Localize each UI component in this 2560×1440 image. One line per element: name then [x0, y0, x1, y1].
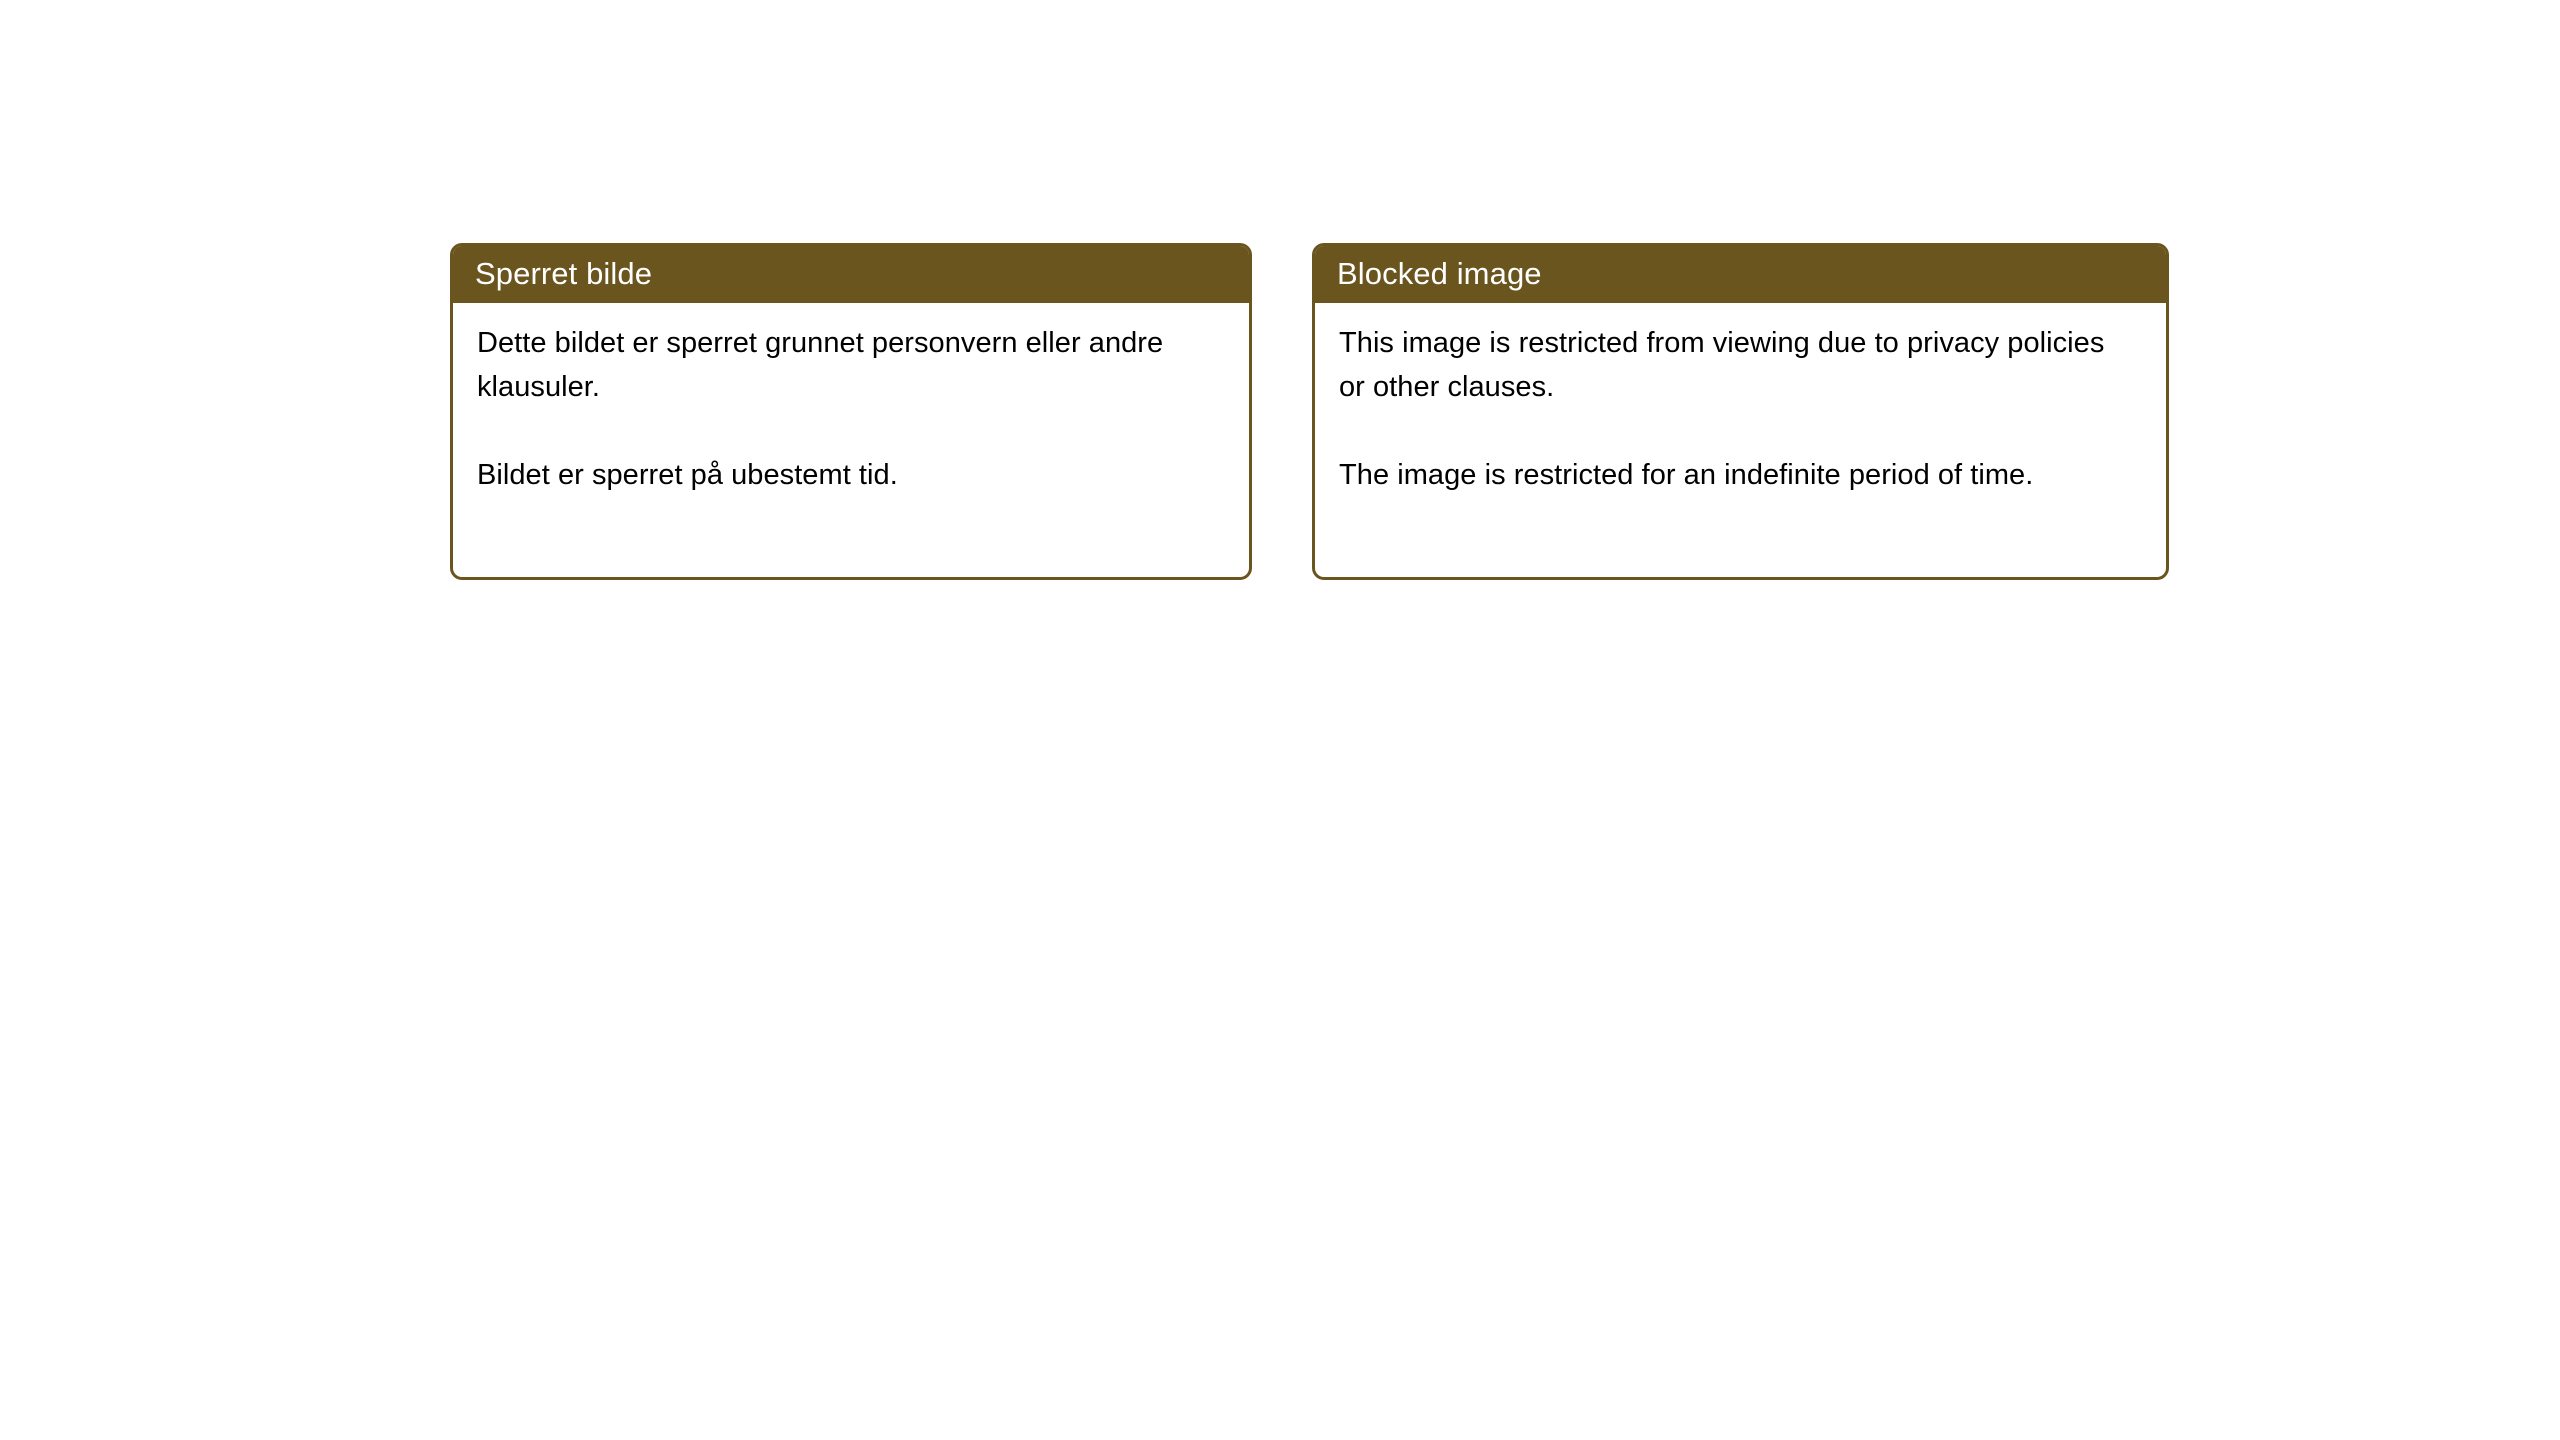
card-header-norwegian: Sperret bilde: [452, 245, 1250, 303]
card-paragraph-restriction-duration-english: The image is restricted for an indefinit…: [1339, 453, 2129, 497]
blocked-image-notice-english: Blocked image This image is restricted f…: [1312, 243, 2169, 580]
blocked-image-notice-norwegian: Sperret bilde Dette bildet er sperret gr…: [450, 243, 1252, 580]
card-title-english: Blocked image: [1337, 257, 1542, 291]
card-paragraph-restriction-reason-english: This image is restricted from viewing du…: [1339, 321, 2129, 409]
card-paragraph-restriction-reason-norwegian: Dette bildet er sperret grunnet personve…: [477, 321, 1217, 409]
card-title-norwegian: Sperret bilde: [475, 257, 652, 291]
page-root: Sperret bilde Dette bildet er sperret gr…: [0, 0, 2560, 1440]
card-body-norwegian: Dette bildet er sperret grunnet personve…: [453, 303, 1249, 497]
paragraph-spacer: [477, 409, 1229, 453]
card-body-english: This image is restricted from viewing du…: [1315, 303, 2166, 497]
card-paragraph-restriction-duration-norwegian: Bildet er sperret på ubestemt tid.: [477, 453, 1217, 497]
card-header-english: Blocked image: [1314, 245, 2167, 303]
paragraph-spacer: [1339, 409, 2146, 453]
